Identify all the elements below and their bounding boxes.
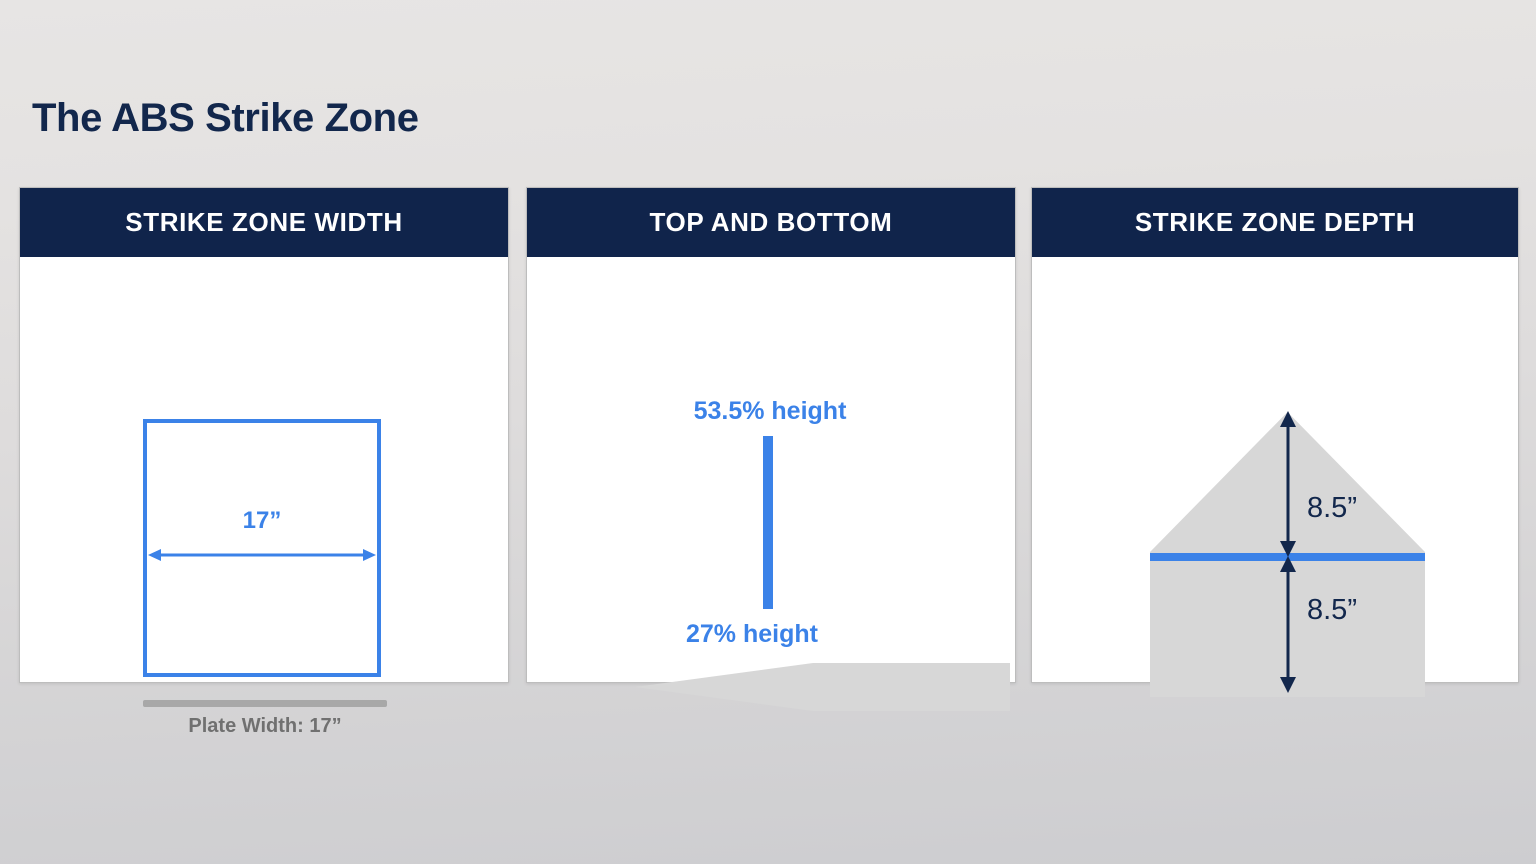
- panel-header-label: STRIKE ZONE DEPTH: [1135, 207, 1415, 238]
- depth-label-upper: 8.5”: [1307, 492, 1357, 525]
- panel-strike-zone-width: STRIKE ZONE WIDTH 17” Plate Width: 17”: [19, 187, 509, 683]
- depth-dimension-arrow-upper: [1276, 411, 1300, 557]
- panel-top-and-bottom: TOP AND BOTTOM 53.5% height 27% height: [526, 187, 1016, 683]
- panel-body-strike-zone-width: 17” Plate Width: 17”: [20, 257, 508, 682]
- home-plate-side-view-shape: [635, 659, 1010, 715]
- panel-header-strike-zone-depth: STRIKE ZONE DEPTH: [1032, 188, 1518, 257]
- panel-header-label: STRIKE ZONE WIDTH: [125, 207, 402, 238]
- strike-zone-top-label: 53.5% height: [585, 397, 955, 426]
- page-title: The ABS Strike Zone: [32, 96, 419, 141]
- panel-header-label: TOP AND BOTTOM: [650, 207, 893, 238]
- panel-header-strike-zone-width: STRIKE ZONE WIDTH: [20, 188, 508, 257]
- width-dimension-arrow: [148, 545, 376, 565]
- strike-zone-bottom-label: 27% height: [567, 620, 937, 649]
- panel-header-top-and-bottom: TOP AND BOTTOM: [527, 188, 1015, 257]
- panel-body-top-and-bottom: 53.5% height 27% height: [527, 257, 1015, 682]
- depth-label-lower: 8.5”: [1307, 594, 1357, 627]
- plate-width-bar: [143, 700, 387, 707]
- strike-zone-vertical-bar: [763, 436, 773, 609]
- panel-body-strike-zone-depth: 8.5” 8.5”: [1032, 257, 1518, 682]
- width-dimension-label: 17”: [143, 507, 381, 535]
- depth-dimension-arrow-lower: [1276, 556, 1300, 693]
- panel-strike-zone-depth: STRIKE ZONE DEPTH 8.5” 8.5”: [1031, 187, 1519, 683]
- plate-width-caption: Plate Width: 17”: [123, 715, 407, 738]
